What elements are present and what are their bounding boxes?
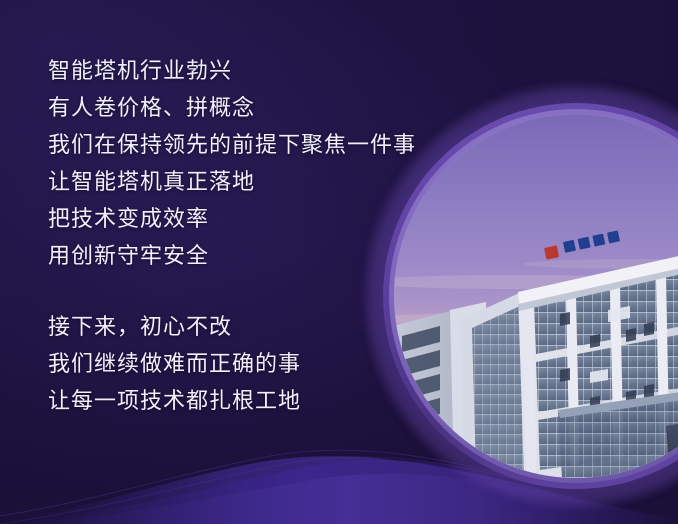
copy-line: 我们继续做难而正确的事	[48, 345, 478, 382]
copy-line: 让智能塔机真正落地	[48, 163, 478, 200]
slide-copy: 智能塔机行业勃兴 有人卷价格、拼概念 我们在保持领先的前提下聚焦一件事 让智能塔…	[48, 52, 478, 419]
copy-line: 接下来，初心不改	[48, 308, 478, 345]
slide-canvas: 智能塔机行业勃兴 有人卷价格、拼概念 我们在保持领先的前提下聚焦一件事 让智能塔…	[0, 0, 678, 524]
paragraph-2: 接下来，初心不改 我们继续做难而正确的事 让每一项技术都扎根工地	[48, 308, 478, 419]
copy-line: 我们在保持领先的前提下聚焦一件事	[48, 126, 478, 163]
copy-line: 有人卷价格、拼概念	[48, 89, 478, 126]
paragraph-1: 智能塔机行业勃兴 有人卷价格、拼概念 我们在保持领先的前提下聚焦一件事 让智能塔…	[48, 52, 478, 274]
copy-line: 智能塔机行业勃兴	[48, 52, 478, 89]
copy-line: 用创新守牢安全	[48, 237, 478, 274]
copy-line: 把技术变成效率	[48, 200, 478, 237]
copy-line: 让每一项技术都扎根工地	[48, 382, 478, 419]
